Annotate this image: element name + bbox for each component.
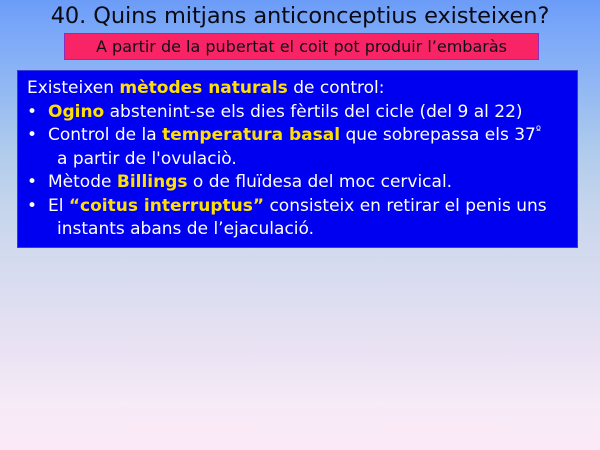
bullet-1-highlight: temperatura basal: [162, 125, 340, 145]
list-item: •El “coitus interruptus” consisteix en r…: [18, 195, 577, 219]
intro-line: Existeixen mètodes naturals de control:: [18, 77, 577, 101]
intro-post: de control:: [288, 78, 385, 98]
bullet-1-pre: Control de la: [48, 125, 162, 145]
list-item: •Mètode Billings o de fluïdesa del moc c…: [18, 171, 577, 195]
bullet-icon: •: [27, 124, 48, 148]
bullet-icon: •: [27, 195, 48, 219]
bullet-0-highlight: Ogino: [48, 102, 104, 122]
bullet-3-post: consisteix en retirar el penis uns: [264, 196, 547, 216]
intro-highlight: mètodes naturals: [119, 78, 287, 98]
bullet-0-post: abstenint-se els dies fèrtils del cicle …: [104, 102, 522, 122]
bullet-2-highlight: Billings: [117, 172, 188, 192]
degree-symbol: º: [536, 123, 541, 136]
bullet-icon: •: [27, 171, 48, 195]
bullet-1-post: que sobrepassa els 37: [340, 125, 536, 145]
slide-canvas: 40. Quins mitjans anticonceptius existei…: [0, 0, 600, 450]
list-item-text: El “coitus interruptus” consisteix en re…: [48, 195, 547, 219]
subtitle-text: A partir de la pubertat el coit pot prod…: [96, 37, 507, 57]
list-item: •Control de la temperatura basal que sob…: [18, 124, 577, 148]
intro-pre: Existeixen: [27, 78, 119, 98]
list-item: •Ogino abstenint-se els dies fèrtils del…: [18, 101, 577, 125]
bullet-3-highlight: “coitus interruptus”: [69, 196, 264, 216]
list-item-text: Mètode Billings o de fluïdesa del moc ce…: [48, 171, 452, 195]
list-item-text: Control de la temperatura basal que sobr…: [48, 124, 541, 148]
bullet-icon: •: [27, 101, 48, 125]
list-item-text: Ogino abstenint-se els dies fèrtils del …: [48, 101, 523, 125]
content-box: Existeixen mètodes naturals de control: …: [17, 70, 578, 248]
bullet-3-pre: El: [48, 196, 69, 216]
bullet-2-pre: Mètode: [48, 172, 117, 192]
page-title: 40. Quins mitjans anticonceptius existei…: [0, 2, 600, 30]
bullet-2-post: o de fluïdesa del moc cervical.: [188, 172, 453, 192]
list-item-continuation: instants abans de l’ejaculació.: [18, 218, 577, 242]
list-item-continuation: a partir de l'ovulaciò.: [18, 148, 577, 172]
subtitle-banner: A partir de la pubertat el coit pot prod…: [64, 33, 539, 60]
